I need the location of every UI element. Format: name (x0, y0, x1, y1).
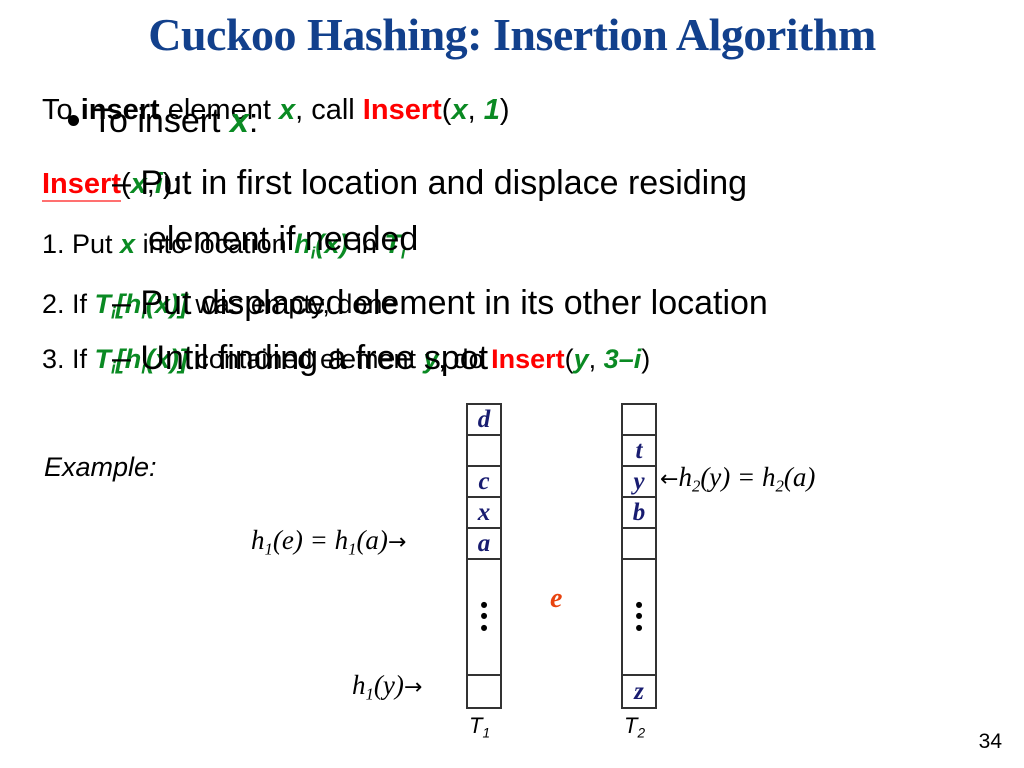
table-cell (468, 676, 500, 707)
bullet-sub-2: – Put displaced element in its other loc… (112, 286, 768, 320)
arrow-right-icon: → (404, 675, 422, 700)
example-label: Example: (44, 452, 157, 483)
table-cell (468, 436, 500, 467)
table-cell (623, 405, 655, 436)
table-cell: t (623, 436, 655, 467)
slide-canvas: Cuckoo Hashing: Insertion Algorithm To i… (0, 0, 1024, 768)
arrow-right-icon: → (388, 530, 406, 555)
bullet-sub-3: – Until finding a free spot (112, 341, 488, 375)
page-number: 34 (979, 730, 1002, 754)
table-cell: z (623, 676, 655, 707)
h2ya-arg1: (y) = (700, 462, 762, 492)
table-cell: c (468, 467, 500, 498)
bullet-sub-1-cont: element if needed (148, 222, 418, 256)
bullet-dot-icon (68, 115, 79, 126)
h1ea-h2: h (335, 525, 349, 555)
t2-label: T (624, 713, 637, 738)
h1ea-arg2: (a) (356, 525, 387, 555)
h1ea-h: h (251, 525, 265, 555)
h2ya-arg2: (a) (784, 462, 815, 492)
t1-label-sub: 1 (482, 725, 490, 740)
t1-label: T (469, 713, 482, 738)
bullet-text-layer: To insert x: – Put in first location and… (0, 0, 1024, 768)
hash-table-t1-label: T1 (469, 713, 490, 740)
hash-annotation-h1-e-a: h1(e) = h1(a)→ (251, 525, 406, 559)
h1y-h: h (352, 670, 366, 700)
table-cell: y (623, 467, 655, 498)
vertical-ellipsis-icon: ••• (635, 600, 642, 635)
arrow-left-icon: ← (660, 467, 678, 492)
table-cell: ••• (468, 560, 500, 676)
h1y-arg: (y) (374, 670, 404, 700)
bullet-sub-1: – Put in first location and displace res… (112, 166, 747, 200)
table-cell (623, 529, 655, 560)
bullet-item-to-insert: To insert x: (68, 104, 258, 138)
hash-table-t1: dcxa••• (466, 403, 502, 709)
vertical-ellipsis-icon: ••• (480, 600, 487, 635)
bullet1-suffix: : (249, 102, 258, 140)
h2ya-h2: h (762, 462, 776, 492)
table-cell: ••• (623, 560, 655, 676)
bullet1-var-x: x (230, 102, 249, 140)
bullet1-prefix: To insert (92, 102, 230, 140)
table-cell: x (468, 498, 500, 529)
table-cell: b (623, 498, 655, 529)
hash-table-t2-label: T2 (624, 713, 645, 740)
h1y-sub: 1 (366, 684, 374, 703)
h1ea-sub: 1 (265, 539, 273, 558)
h2ya-sub2: 2 (776, 476, 784, 495)
table-cell: d (468, 405, 500, 436)
floating-element-e: e (550, 583, 562, 615)
h1ea-arg1: (e) = (273, 525, 335, 555)
t2-label-sub: 2 (637, 725, 645, 740)
hash-annotation-h1-y: h1(y)→ (352, 670, 422, 704)
table-cell: a (468, 529, 500, 560)
hash-table-t2: tyb•••z (621, 403, 657, 709)
hash-annotation-h2-y-a: ←h2(y) = h2(a) (660, 462, 815, 496)
h2ya-h: h (678, 462, 692, 492)
